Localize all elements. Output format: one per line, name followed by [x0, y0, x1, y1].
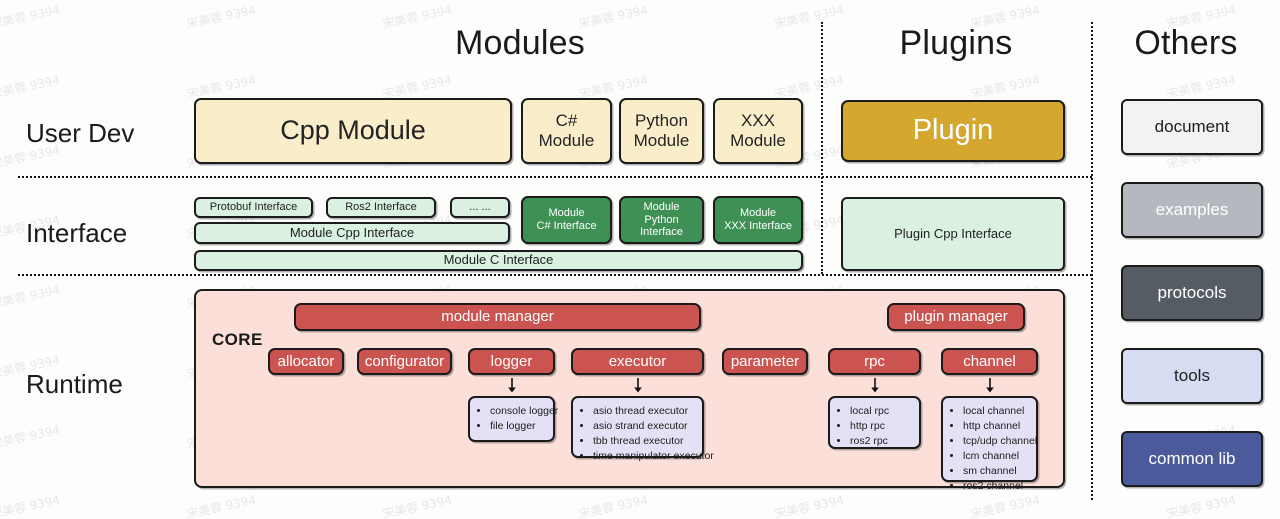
list-item: ros2 channel: [963, 479, 1028, 494]
watermark-text: 宋美蓉 9394: [577, 491, 649, 519]
module-python-interface-line2: Python Interface: [621, 214, 702, 239]
watermark-text: 宋美蓉 9394: [0, 1, 61, 32]
rpc-arrow-icon: [868, 378, 882, 394]
others-common-lib-box[interactable]: common lib: [1121, 431, 1263, 487]
list-item: ros2 rpc: [850, 434, 911, 449]
list-item: lcm channel: [963, 449, 1028, 464]
plugin-label: Plugin: [909, 114, 998, 147]
csharp-module-box[interactable]: C# Module: [521, 98, 612, 164]
architecture-diagram: 宋美蓉 9394宋美蓉 9394宋美蓉 9394宋美蓉 9394宋美蓉 9394…: [0, 0, 1280, 519]
list-item: local channel: [963, 404, 1028, 419]
others-document-label: document: [1151, 117, 1234, 137]
executor-arrow-icon: [631, 378, 645, 394]
list-item: time manipulator executor: [593, 449, 694, 464]
list-item: file logger: [490, 419, 545, 434]
list-item: http channel: [963, 419, 1028, 434]
parameter-label: parameter: [727, 353, 803, 370]
module-manager-box[interactable]: module manager: [294, 303, 701, 331]
module-xxx-interface-box[interactable]: Module XXX Interface: [713, 196, 803, 244]
row-label-interface: Interface: [26, 218, 127, 249]
others-tools-label: tools: [1170, 366, 1214, 386]
module-python-interface-line1: Module: [639, 201, 683, 214]
logger-items: console loggerfile logger: [476, 404, 545, 434]
channel-items: local channelhttp channeltcp/udp channel…: [949, 404, 1028, 493]
watermark-text: 宋美蓉 9394: [1165, 491, 1237, 519]
watermark-text: 宋美蓉 9394: [969, 491, 1041, 519]
others-protocols-box[interactable]: protocols: [1121, 265, 1263, 321]
ellipsis-interface-label: ... ...: [465, 201, 494, 214]
logger-detail-list: console loggerfile logger: [468, 396, 555, 442]
list-item: sm channel: [963, 464, 1028, 479]
module-csharp-interface-line1: Module: [544, 207, 588, 220]
others-tools-box[interactable]: tools: [1121, 348, 1263, 404]
module-csharp-interface-line2: C# Interface: [533, 220, 601, 233]
channel-arrow-icon: [983, 378, 997, 394]
plugin-cpp-interface-box[interactable]: Plugin Cpp Interface: [841, 197, 1065, 271]
parameter-box[interactable]: parameter: [722, 348, 808, 375]
cpp-module-box[interactable]: Cpp Module: [194, 98, 512, 164]
ellipsis-interface-box[interactable]: ... ...: [450, 197, 510, 218]
channel-label: channel: [959, 353, 1020, 370]
watermark-text: 宋美蓉 9394: [381, 491, 453, 519]
xxx-module-label-line2: Module: [726, 131, 790, 151]
module-c-interface-box[interactable]: Module C Interface: [194, 250, 803, 271]
column-heading-plugins: Plugins: [824, 24, 1088, 63]
executor-label: executor: [605, 353, 671, 370]
channel-box[interactable]: channel: [941, 348, 1038, 375]
module-c-interface-label: Module C Interface: [440, 253, 558, 268]
python-module-label-line1: Python: [631, 111, 692, 131]
list-item: tcp/udp channel: [963, 434, 1028, 449]
divider-modules-plugins: [821, 22, 823, 274]
ros2-interface-box[interactable]: Ros2 Interface: [326, 197, 436, 218]
csharp-module-label-line1: C#: [552, 111, 582, 131]
divider-userdev-interface: [18, 176, 1092, 178]
executor-detail-list: asio thread executorasio strand executor…: [571, 396, 704, 458]
channel-detail-list: local channelhttp channeltcp/udp channel…: [941, 396, 1038, 482]
allocator-box[interactable]: allocator: [268, 348, 344, 375]
xxx-module-label-line1: XXX: [737, 111, 779, 131]
allocator-label: allocator: [274, 353, 339, 370]
python-module-box[interactable]: Python Module: [619, 98, 704, 164]
plugin-cpp-interface-label: Plugin Cpp Interface: [890, 227, 1016, 242]
watermark-text: 宋美蓉 9394: [0, 421, 61, 452]
module-xxx-interface-line1: Module: [736, 207, 780, 220]
watermark-text: 宋美蓉 9394: [0, 71, 61, 102]
others-common-lib-label: common lib: [1145, 449, 1240, 469]
list-item: local rpc: [850, 404, 911, 419]
row-label-runtime: Runtime: [26, 369, 123, 400]
divider-interface-runtime: [18, 274, 1092, 276]
ros2-interface-label: Ros2 Interface: [341, 201, 421, 214]
watermark-text: 宋美蓉 9394: [0, 281, 61, 312]
list-item: http rpc: [850, 419, 911, 434]
rpc-label: rpc: [860, 353, 889, 370]
watermark-text: 宋美蓉 9394: [185, 1, 257, 32]
module-csharp-interface-box[interactable]: Module C# Interface: [521, 196, 612, 244]
list-item: tbb thread executor: [593, 434, 694, 449]
logger-label: logger: [487, 353, 537, 370]
rpc-detail-list: local rpchttp rpcros2 rpc: [828, 396, 921, 449]
divider-plugins-others: [1091, 22, 1093, 500]
configurator-box[interactable]: configurator: [357, 348, 452, 375]
executor-items: asio thread executorasio strand executor…: [579, 404, 694, 464]
logger-box[interactable]: logger: [468, 348, 555, 375]
plugin-manager-box[interactable]: plugin manager: [887, 303, 1025, 331]
module-cpp-interface-label: Module Cpp Interface: [286, 226, 418, 241]
watermark-text: 宋美蓉 9394: [1165, 71, 1237, 102]
plugin-manager-label: plugin manager: [900, 308, 1011, 325]
cpp-module-label: Cpp Module: [276, 115, 430, 146]
watermark-text: 宋美蓉 9394: [773, 491, 845, 519]
protobuf-interface-label: Protobuf Interface: [206, 201, 301, 214]
plugin-box[interactable]: Plugin: [841, 100, 1065, 162]
watermark-text: 宋美蓉 9394: [185, 491, 257, 519]
column-heading-others: Others: [1094, 24, 1278, 63]
list-item: asio thread executor: [593, 404, 694, 419]
others-document-box[interactable]: document: [1121, 99, 1263, 155]
others-protocols-label: protocols: [1154, 283, 1231, 303]
column-heading-modules: Modules: [330, 24, 710, 63]
watermark-text: 宋美蓉 9394: [969, 71, 1041, 102]
csharp-module-label-line2: Module: [535, 131, 599, 151]
others-examples-label: examples: [1152, 200, 1233, 220]
module-python-interface-box[interactable]: Module Python Interface: [619, 196, 704, 244]
row-label-user-dev: User Dev: [26, 118, 134, 149]
configurator-label: configurator: [361, 353, 448, 370]
protobuf-interface-box[interactable]: Protobuf Interface: [194, 197, 313, 218]
watermark-text: 宋美蓉 9394: [0, 491, 61, 519]
core-label: CORE: [212, 330, 263, 350]
list-item: asio strand executor: [593, 419, 694, 434]
rpc-box[interactable]: rpc: [828, 348, 921, 375]
module-xxx-interface-line2: XXX Interface: [720, 220, 796, 233]
logger-arrow-icon: [505, 378, 519, 394]
module-manager-label: module manager: [437, 308, 558, 325]
list-item: console logger: [490, 404, 545, 419]
rpc-items: local rpchttp rpcros2 rpc: [836, 404, 911, 449]
xxx-module-box[interactable]: XXX Module: [713, 98, 803, 164]
python-module-label-line2: Module: [630, 131, 694, 151]
executor-box[interactable]: executor: [571, 348, 704, 375]
module-cpp-interface-box[interactable]: Module Cpp Interface: [194, 222, 510, 244]
others-examples-box[interactable]: examples: [1121, 182, 1263, 238]
